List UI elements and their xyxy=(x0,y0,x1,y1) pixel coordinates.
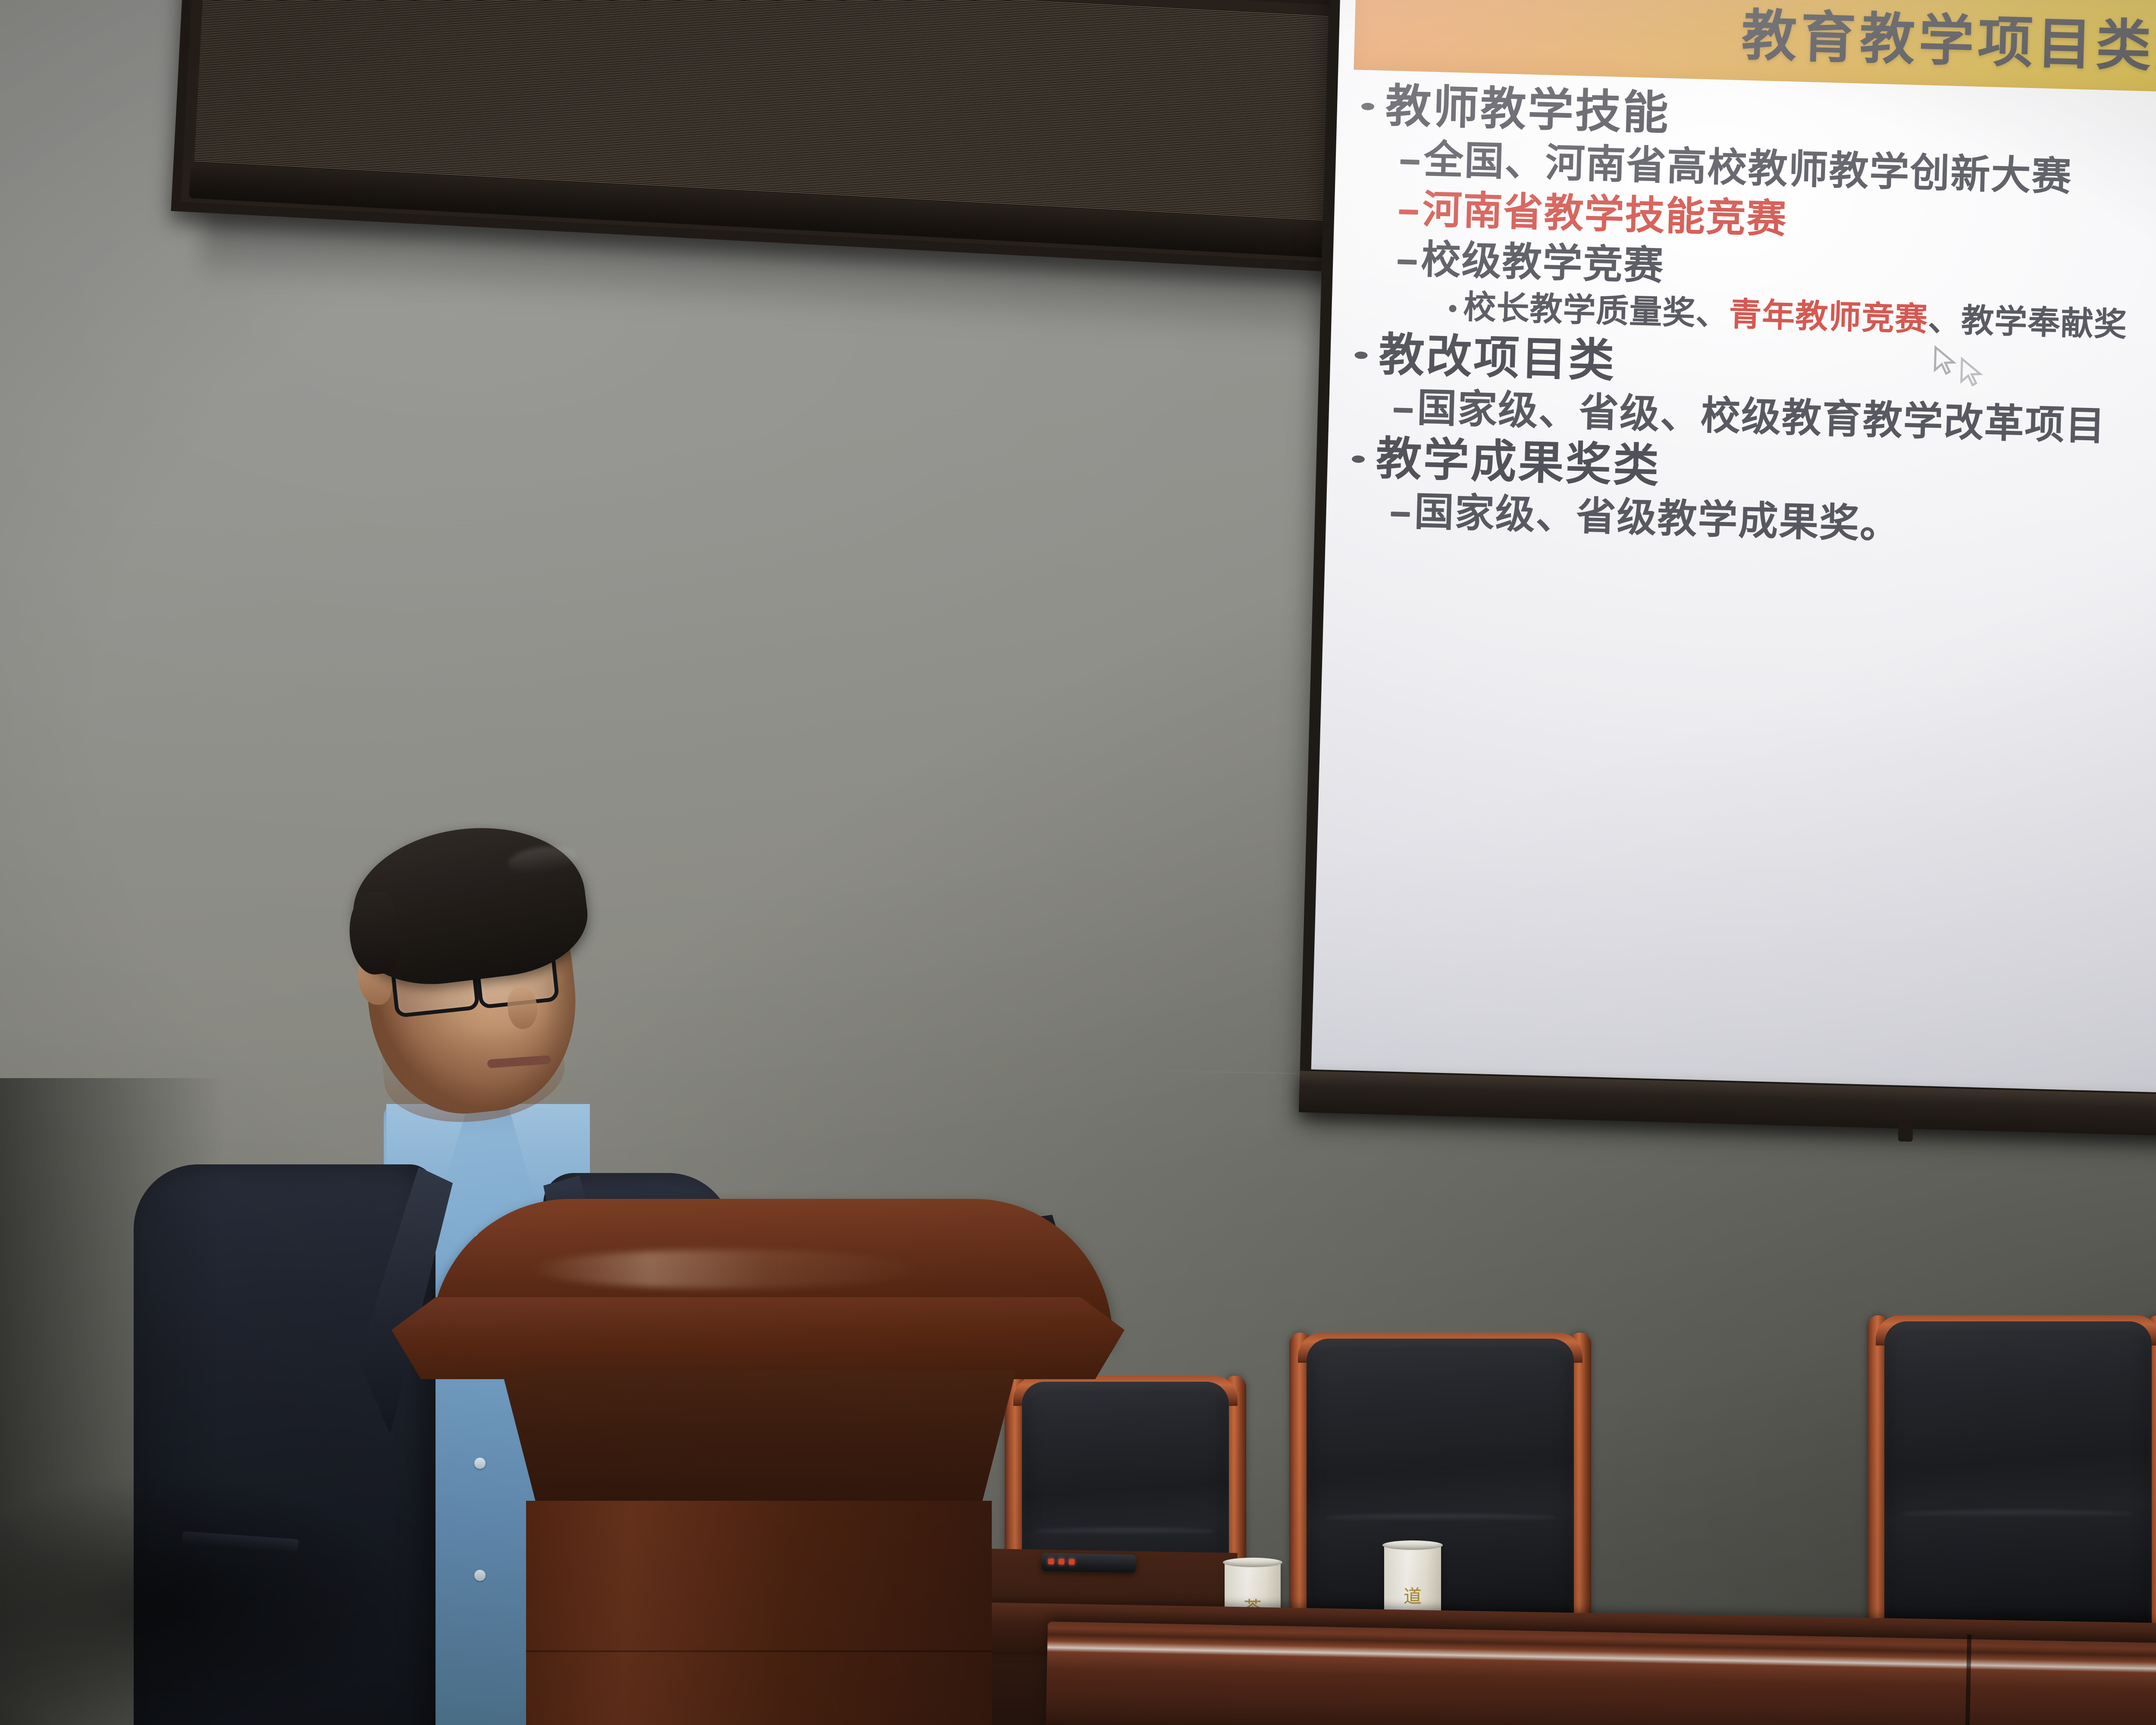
projection-screen: 教育教学项目类型 教师教学技能 全国、河南省高校教师教学创新大赛 河南省教 xyxy=(1299,0,2156,1147)
slide-body: 教师教学技能 全国、河南省高校教师教学创新大赛 河南省教学技能竞赛 校级教学竞赛 xyxy=(1332,78,2156,1078)
bullet-label: 校级教学竞赛 xyxy=(1420,235,1665,290)
slide-title: 教育教学项目类型 xyxy=(1741,0,2156,83)
lectern-shelf xyxy=(392,1297,1125,1379)
bullet-dash-icon xyxy=(1399,209,1418,214)
bullet-dash-icon xyxy=(1401,159,1420,164)
screen-surface: 教育教学项目类型 教师教学技能 全国、河南省高校教师教学创新大赛 河南省教 xyxy=(1311,0,2156,1104)
bullet-dash-icon xyxy=(1394,408,1413,413)
floor-shadow xyxy=(0,1475,561,1725)
bullet-label: 教改项目类 xyxy=(1378,329,1617,386)
bullet-dash-icon xyxy=(1391,512,1410,517)
bullet-label: 教师教学技能 xyxy=(1385,80,1671,139)
bullet-dot-icon xyxy=(1361,103,1374,110)
bullet-label: 河南省教学技能竞赛 xyxy=(1422,185,1788,243)
lecture-hall-photo: 教育教学项目类型 教师教学技能 全国、河南省高校教师教学创新大赛 河南省教 xyxy=(0,0,2156,1725)
lectern-column xyxy=(526,1501,992,1725)
bullet-segment: 、教学奉献奖 xyxy=(1927,300,2128,344)
cup-rim xyxy=(1382,1540,1443,1550)
lectern-gloss xyxy=(530,1250,927,1289)
presentation-slide: 教育教学项目类型 教师教学技能 全国、河南省高校教师教学创新大赛 河南省教 xyxy=(1311,0,2156,1104)
bullet-segment: 校长教学质量奖、 xyxy=(1463,288,1729,333)
conference-chair xyxy=(1867,1315,2156,1626)
cup-calligraphy: 道 xyxy=(1384,1587,1441,1606)
bullet-label: 国家级、省级教学成果奖。 xyxy=(1413,487,1901,549)
bullet-segment-highlighted: 青年教师竞赛 xyxy=(1728,295,1928,339)
mouse-cursor-ghost-icon xyxy=(1956,356,1989,389)
bullet-dot-icon xyxy=(1352,455,1365,463)
bullet-subdot-icon xyxy=(1449,305,1456,312)
bullet-dot-icon xyxy=(1354,351,1367,359)
bullet-dash-icon xyxy=(1398,260,1416,265)
cup-rim xyxy=(1223,1558,1282,1567)
bullet-label: 教学成果奖类 xyxy=(1375,433,1661,492)
chair-backrest xyxy=(1884,1321,2152,1626)
